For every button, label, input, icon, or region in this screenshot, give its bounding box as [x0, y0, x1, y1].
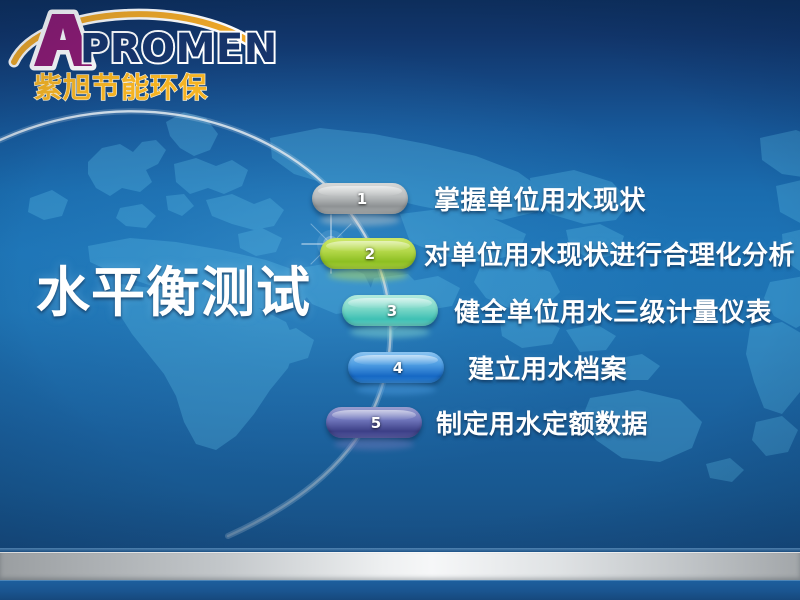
step-number-5: 5	[371, 414, 381, 432]
footer-silver-band	[0, 552, 800, 580]
step-label-5: 制定用水定额数据	[436, 404, 648, 441]
step-label-1: 掌握单位用水现状	[434, 180, 646, 217]
pill-reflection	[350, 326, 431, 338]
step-row-1[interactable]: 1 掌握单位用水现状	[312, 180, 646, 217]
step-number-2: 2	[365, 245, 375, 263]
pill-reflection	[320, 214, 401, 226]
pill-reflection	[356, 383, 437, 395]
step-pill-5[interactable]: 5	[326, 407, 422, 438]
step-pill-3[interactable]: 3	[342, 295, 438, 326]
page-title: 水平衡测试	[36, 266, 311, 320]
pill-reflection	[334, 438, 415, 450]
pill-reflection	[328, 269, 409, 281]
step-pill-2[interactable]: 2	[320, 238, 416, 269]
step-label-4: 建立用水档案	[468, 349, 627, 386]
step-row-2[interactable]: 2 对单位用水现状进行合理化分析	[320, 235, 795, 272]
step-pill-4[interactable]: 4	[348, 352, 444, 383]
step-number-4: 4	[393, 359, 403, 377]
step-row-5[interactable]: 5 制定用水定额数据	[326, 404, 648, 441]
logo-chinese-name: 紫旭节能环保	[34, 71, 208, 104]
svg-text:PROMEN: PROMEN	[80, 26, 276, 72]
step-label-2: 对单位用水现状进行合理化分析	[424, 235, 795, 272]
step-label-3: 健全单位用水三级计量仪表	[454, 292, 772, 329]
company-logo: PROMEN PROMEN 紫旭节能环保	[0, 0, 276, 108]
step-pill-1[interactable]: 1	[312, 183, 408, 214]
footer-blue-band	[0, 580, 800, 600]
slide-canvas: PROMEN PROMEN 紫旭节能环保 水平衡测试 1 掌握单位用水现状	[0, 0, 800, 600]
step-number-1: 1	[357, 190, 367, 208]
step-row-4[interactable]: 4 建立用水档案	[348, 349, 627, 386]
step-number-3: 3	[387, 302, 397, 320]
step-row-3[interactable]: 3 健全单位用水三级计量仪表	[342, 292, 772, 329]
